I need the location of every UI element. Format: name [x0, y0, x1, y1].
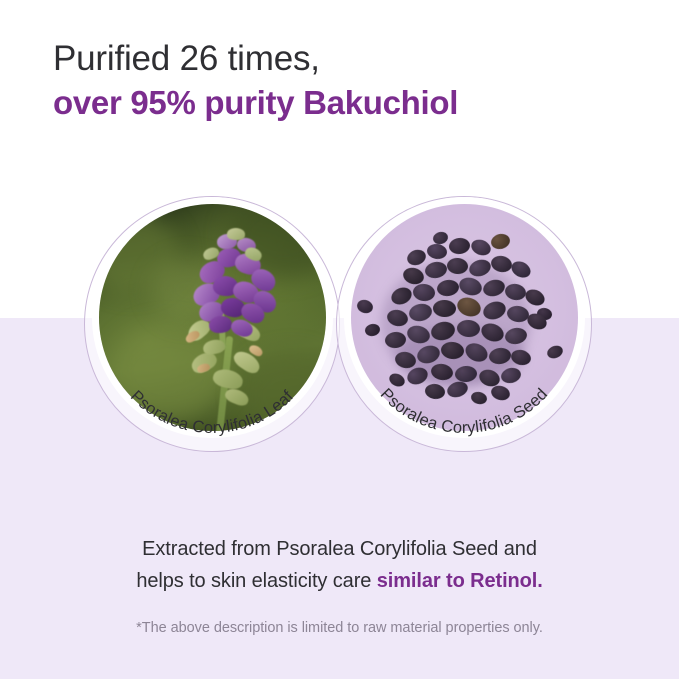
body-line-1: Extracted from Psoralea Corylifolia Seed… [0, 533, 679, 565]
body-copy-block: Extracted from Psoralea Corylifolia Seed… [0, 533, 679, 598]
medallion-leaf: Psoralea Corylifolia Leaf [84, 196, 340, 452]
footnote-disclaimer: *The above description is limited to raw… [0, 620, 679, 636]
headline-block: Purified 26 times, over 95% purity Bakuc… [53, 38, 633, 124]
body-line-2: helps to skin elasticity care similar to… [0, 565, 679, 597]
headline-line-1: Purified 26 times, [53, 38, 633, 81]
psoralea-corylifolia-leaf-photo [99, 204, 326, 431]
body-line-2-prefix: helps to skin elasticity care [136, 570, 376, 592]
psoralea-corylifolia-seed-photo [351, 204, 578, 431]
product-info-poster: Purified 26 times, over 95% purity Bakuc… [0, 0, 679, 679]
medallion-seed: Psoralea Corylifolia Seed [336, 196, 592, 452]
body-line-2-accent: similar to Retinol. [377, 570, 543, 592]
headline-line-2: over 95% purity Bakuchiol [53, 83, 633, 124]
